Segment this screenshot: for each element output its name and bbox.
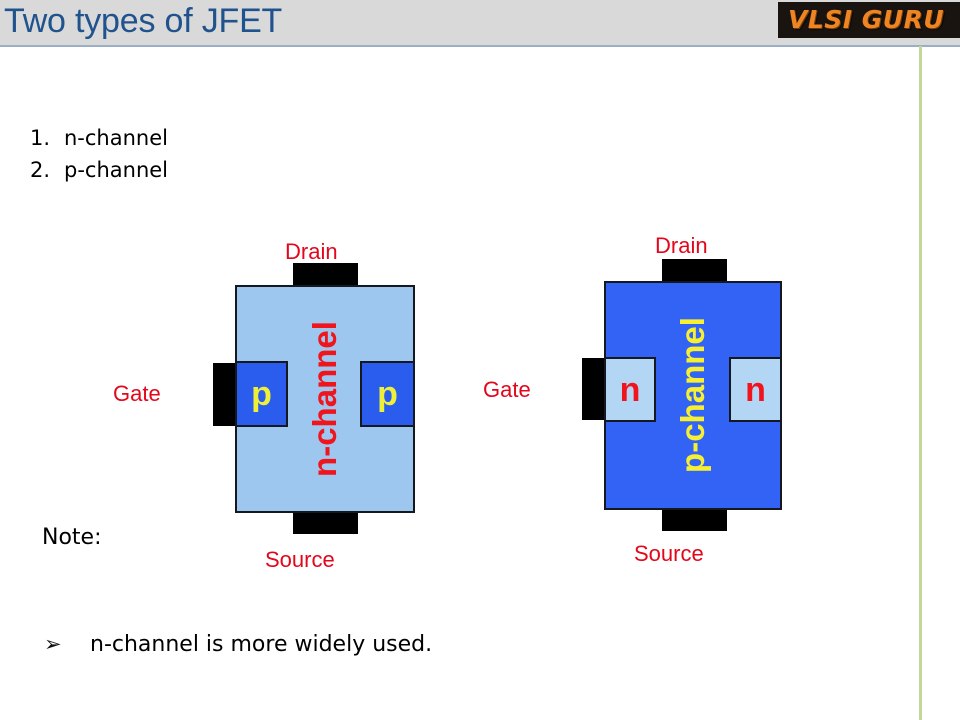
arrow-bullet-icon: ➢ (44, 632, 90, 656)
note-label: Note: (42, 525, 102, 550)
note-bullet-row: ➢ n-channel is more widely used. (44, 632, 432, 657)
gate-terminal (582, 358, 606, 420)
gate-label: Gate (483, 377, 531, 403)
p-channel-jfet-diagram: n n p-channel Drain Source Gate (0, 0, 960, 720)
drain-label: Drain (655, 233, 708, 259)
source-terminal (662, 507, 727, 531)
note-bullet-text: n-channel is more widely used. (90, 632, 432, 657)
n-region-left: n (604, 357, 656, 422)
source-label: Source (634, 541, 704, 567)
n-region-right: n (729, 357, 782, 422)
p-channel-text: p-channel (674, 306, 712, 484)
drain-terminal (662, 259, 727, 282)
